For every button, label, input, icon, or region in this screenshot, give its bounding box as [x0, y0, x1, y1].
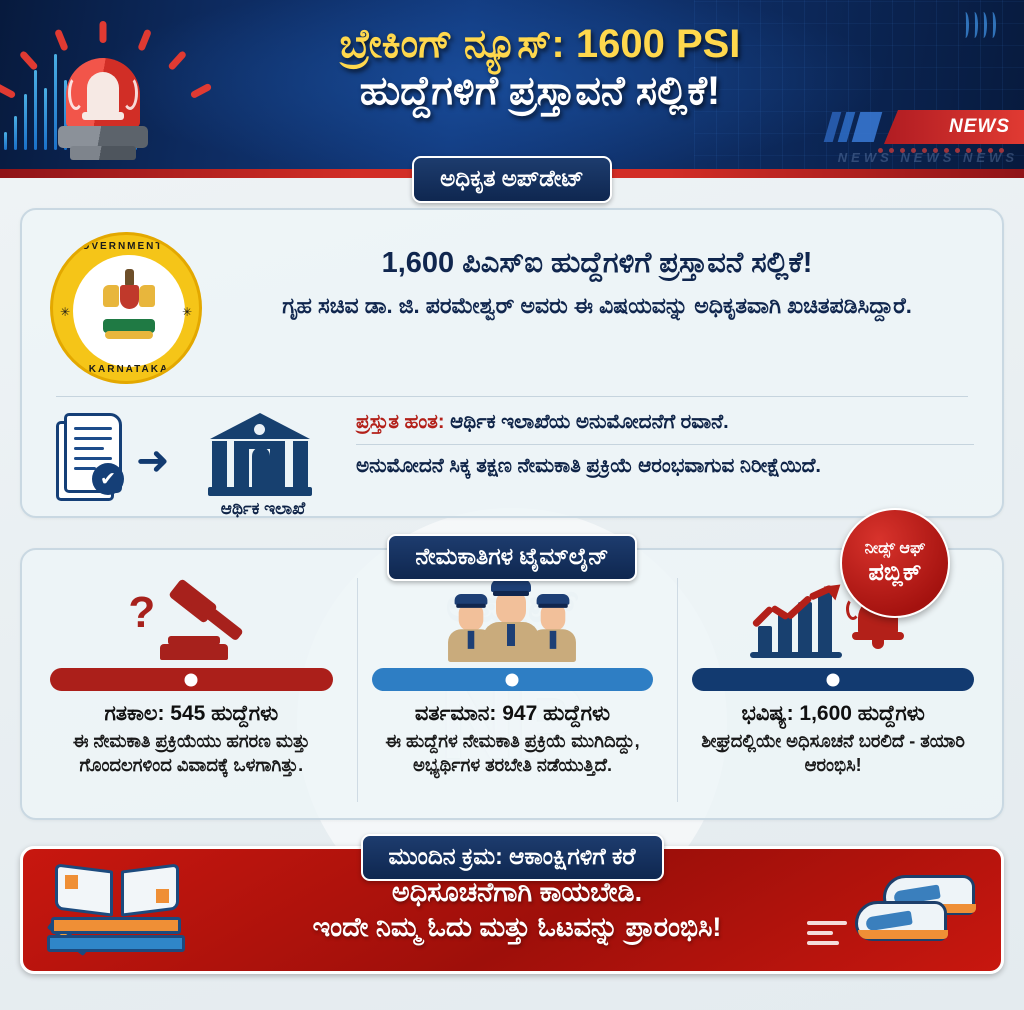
timeline-desc-present: ಈ ಹುದ್ದೆಗಳ ನೇಮಕಾತಿ ಪ್ರಕ್ರಿಯೆ ಮುಗಿದಿದ್ದು,…	[364, 730, 662, 777]
stage-divider	[356, 444, 974, 445]
police-officers-icon	[364, 578, 662, 662]
timeline-desc-future: ಶೀಘ್ರದಲ್ಲಿಯೇ ಅಧಿಸೂಚನೆ ಬರಲಿದೆ - ತಯಾರಿ ಆರಂ…	[684, 730, 982, 777]
timeline-title-future: ಭವಿಷ್ಯ: 1,600 ಹುದ್ದೆಗಳು	[684, 701, 982, 727]
timeline-bar-future	[692, 668, 974, 691]
news-bars-decoration	[824, 112, 883, 142]
timeline-column-past: ? ಗತಕಾಲ: 545 ಹುದ್ದೆಗಳು ಈ ನೇಮಕಾತಿ ಪ್ರಕ್ರಿ…	[36, 578, 347, 802]
badge-line2: ಪಬ್ಲಿಕ್	[869, 560, 922, 586]
approval-flow-icons: ✔ ➜ ಆರ್ಥಿಕ ಇಲಾಖೆ	[50, 407, 340, 525]
timeline-pill: ನೇಮಕಾತಿಗಳ ಟೈಮ್‌ಲೈನ್	[387, 534, 636, 581]
official-update-card: GOVERNMENT OF KARNATAKA ✳ ✳ 1,600 ಪಿಎಸ್‌…	[20, 208, 1004, 518]
needs-of-public-badge: ನೀಡ್ಸ್ ಆಫ್ ಪಬ್ಲಿಕ್	[840, 508, 950, 618]
timeline-title-present: ವರ್ತಮಾನ: 947 ಹುದ್ದೆಗಳು	[364, 701, 662, 727]
arrow-right-icon: ➜	[136, 441, 198, 485]
breaking-news-header: ಬ್ರೇಕಿಂಗ್ ನ್ಯೂಸ್: 1600 PSI ಹುದ್ದೆಗಳಿಗೆ ಪ…	[0, 0, 1024, 178]
news-tag-label: NEWS	[949, 116, 1010, 138]
emblem-star-right: ✳	[182, 305, 192, 319]
timeline-card: ನೀಡ್ಸ್ ಆಫ್ ಪಬ್ಲಿಕ್ ? ಗತಕಾಲ: 545	[20, 548, 1004, 820]
official-update-headline: 1,600 ಪಿಎಸ್‌ಐ ಹುದ್ದೆಗಳಿಗೆ ಪ್ರಸ್ತಾವನೆ ಸಲ್…	[220, 246, 974, 281]
news-tag: NEWS	[884, 110, 1024, 144]
cta-line2: ಇಂದೇ ನಿಮ್ಮ ಓದು ಮತ್ತು ಓಟವನ್ನು ಪ್ರಾರಂಭಿಸಿ!	[313, 910, 722, 945]
finance-department-label: ಆರ್ಥಿಕ ಇಲಾಖೆ	[188, 499, 338, 519]
emblem-crest	[101, 269, 157, 339]
badge-line1: ನೀಡ್ಸ್ ಆಫ್	[865, 540, 926, 558]
books-pencil-icon	[47, 867, 187, 963]
header-title-block: ಬ್ರೇಕಿಂಗ್ ನ್ಯೂಸ್: 1600 PSI ಹುದ್ದೆಗಳಿಗೆ ಪ…	[180, 22, 900, 115]
header-title-line2: ಹುದ್ದೆಗಳಿಗೆ ಪ್ರಸ್ತಾವನೆ ಸಲ್ಲಿಕೆ!	[180, 67, 900, 115]
timeline-desc-past: ಈ ನೇಮಕಾತಿ ಪ್ರಕ್ರಿಯೆಯು ಹಗರಣ ಮತ್ತು ಗೊಂದಲಗಳ…	[42, 730, 341, 777]
current-stage-label: ಪ್ರಸ್ತುತ ಹಂತ:	[356, 411, 445, 433]
speed-lines-decoration	[807, 921, 847, 951]
news-ghost-text: NEWS NEWS NEWS	[838, 150, 1018, 165]
timeline-column-future: ! ಭವಿಷ್ಯ: 1,600 ಹುದ್ದೆಗಳು ಶೀಘ್ರದಲ್ಲಿಯೇ ಅ…	[677, 578, 988, 802]
timeline-bar-past	[50, 668, 333, 691]
emblem-star-left: ✳	[60, 305, 70, 319]
current-stage-text: ಆರ್ಥಿಕ ಇಲಾಖೆಯ ಅನುಮೋದನೆಗೆ ರವಾನೆ.	[450, 411, 729, 433]
official-update-subtext: ಗೃಹ ಸಚಿವ ಡಾ. ಜಿ. ಪರಮೇಶ್ವರ್ ಅವರು ಈ ವಿಷಯವನ…	[220, 291, 974, 321]
official-update-pill: ಅಧಿಕೃತ ಅಪ್‌ಡೇಟ್	[412, 156, 612, 203]
gavel-question-icon: ?	[42, 578, 341, 662]
cta-pill: ಮುಂದಿನ ಕ್ರಮ: ಆಕಾಂಕ್ಷಿಗಳಿಗೆ ಕರೆ	[361, 834, 664, 881]
karnataka-government-emblem-icon: GOVERNMENT OF KARNATAKA ✳ ✳	[50, 232, 202, 384]
current-stage-line: ಪ್ರಸ್ತುತ ಹಂತ: ಆರ್ಥಿಕ ಇಲಾಖೆಯ ಅನುಮೋದನೆಗೆ ರ…	[356, 409, 974, 436]
siren-icon	[28, 14, 178, 166]
stage-note: ಅನುಮೋದನೆ ಸಿಕ್ಕ ತಕ್ಷಣ ನೇಮಕಾತಿ ಪ್ರಕ್ರಿಯೆ ಆ…	[356, 453, 974, 481]
document-verified-icon: ✔	[56, 413, 128, 505]
header-title-line1: ಬ್ರೇಕಿಂಗ್ ನ್ಯೂಸ್: 1600 PSI	[180, 22, 900, 67]
emblem-text-bottom: KARNATAKA	[53, 364, 202, 375]
finance-department-building-icon	[208, 413, 312, 501]
check-icon: ✔	[92, 463, 124, 495]
signal-arcs-icon	[960, 12, 996, 43]
cta-text-block: ಅಧಿಸೂಚನೆಗಾಗಿ ಕಾಯಬೇಡಿ. ಇಂದೇ ನಿಮ್ಮ ಓದು ಮತ್…	[153, 875, 872, 945]
timeline-bar-present	[372, 668, 654, 691]
emblem-text-top: GOVERNMENT OF	[53, 241, 202, 252]
timeline-title-past: ಗತಕಾಲ: 545 ಹುದ್ದೆಗಳು	[42, 701, 341, 727]
infographic-page: ಬ್ರೇಕಿಂಗ್ ನ್ಯೂಸ್: 1600 PSI ಹುದ್ದೆಗಳಿಗೆ ಪ…	[0, 0, 1024, 1010]
running-shoes-icon	[831, 871, 981, 957]
infographic-body: NP ಅಪ್ಡೇಟ್ಸ್ ಅಧಿಕೃತ ಅಪ್‌ಡೇಟ್ GOVERNMENT …	[0, 178, 1024, 1010]
timeline-column-present: ವರ್ತಮಾನ: 947 ಹುದ್ದೆಗಳು ಈ ಹುದ್ದೆಗಳ ನೇಮಕಾತ…	[357, 578, 668, 802]
